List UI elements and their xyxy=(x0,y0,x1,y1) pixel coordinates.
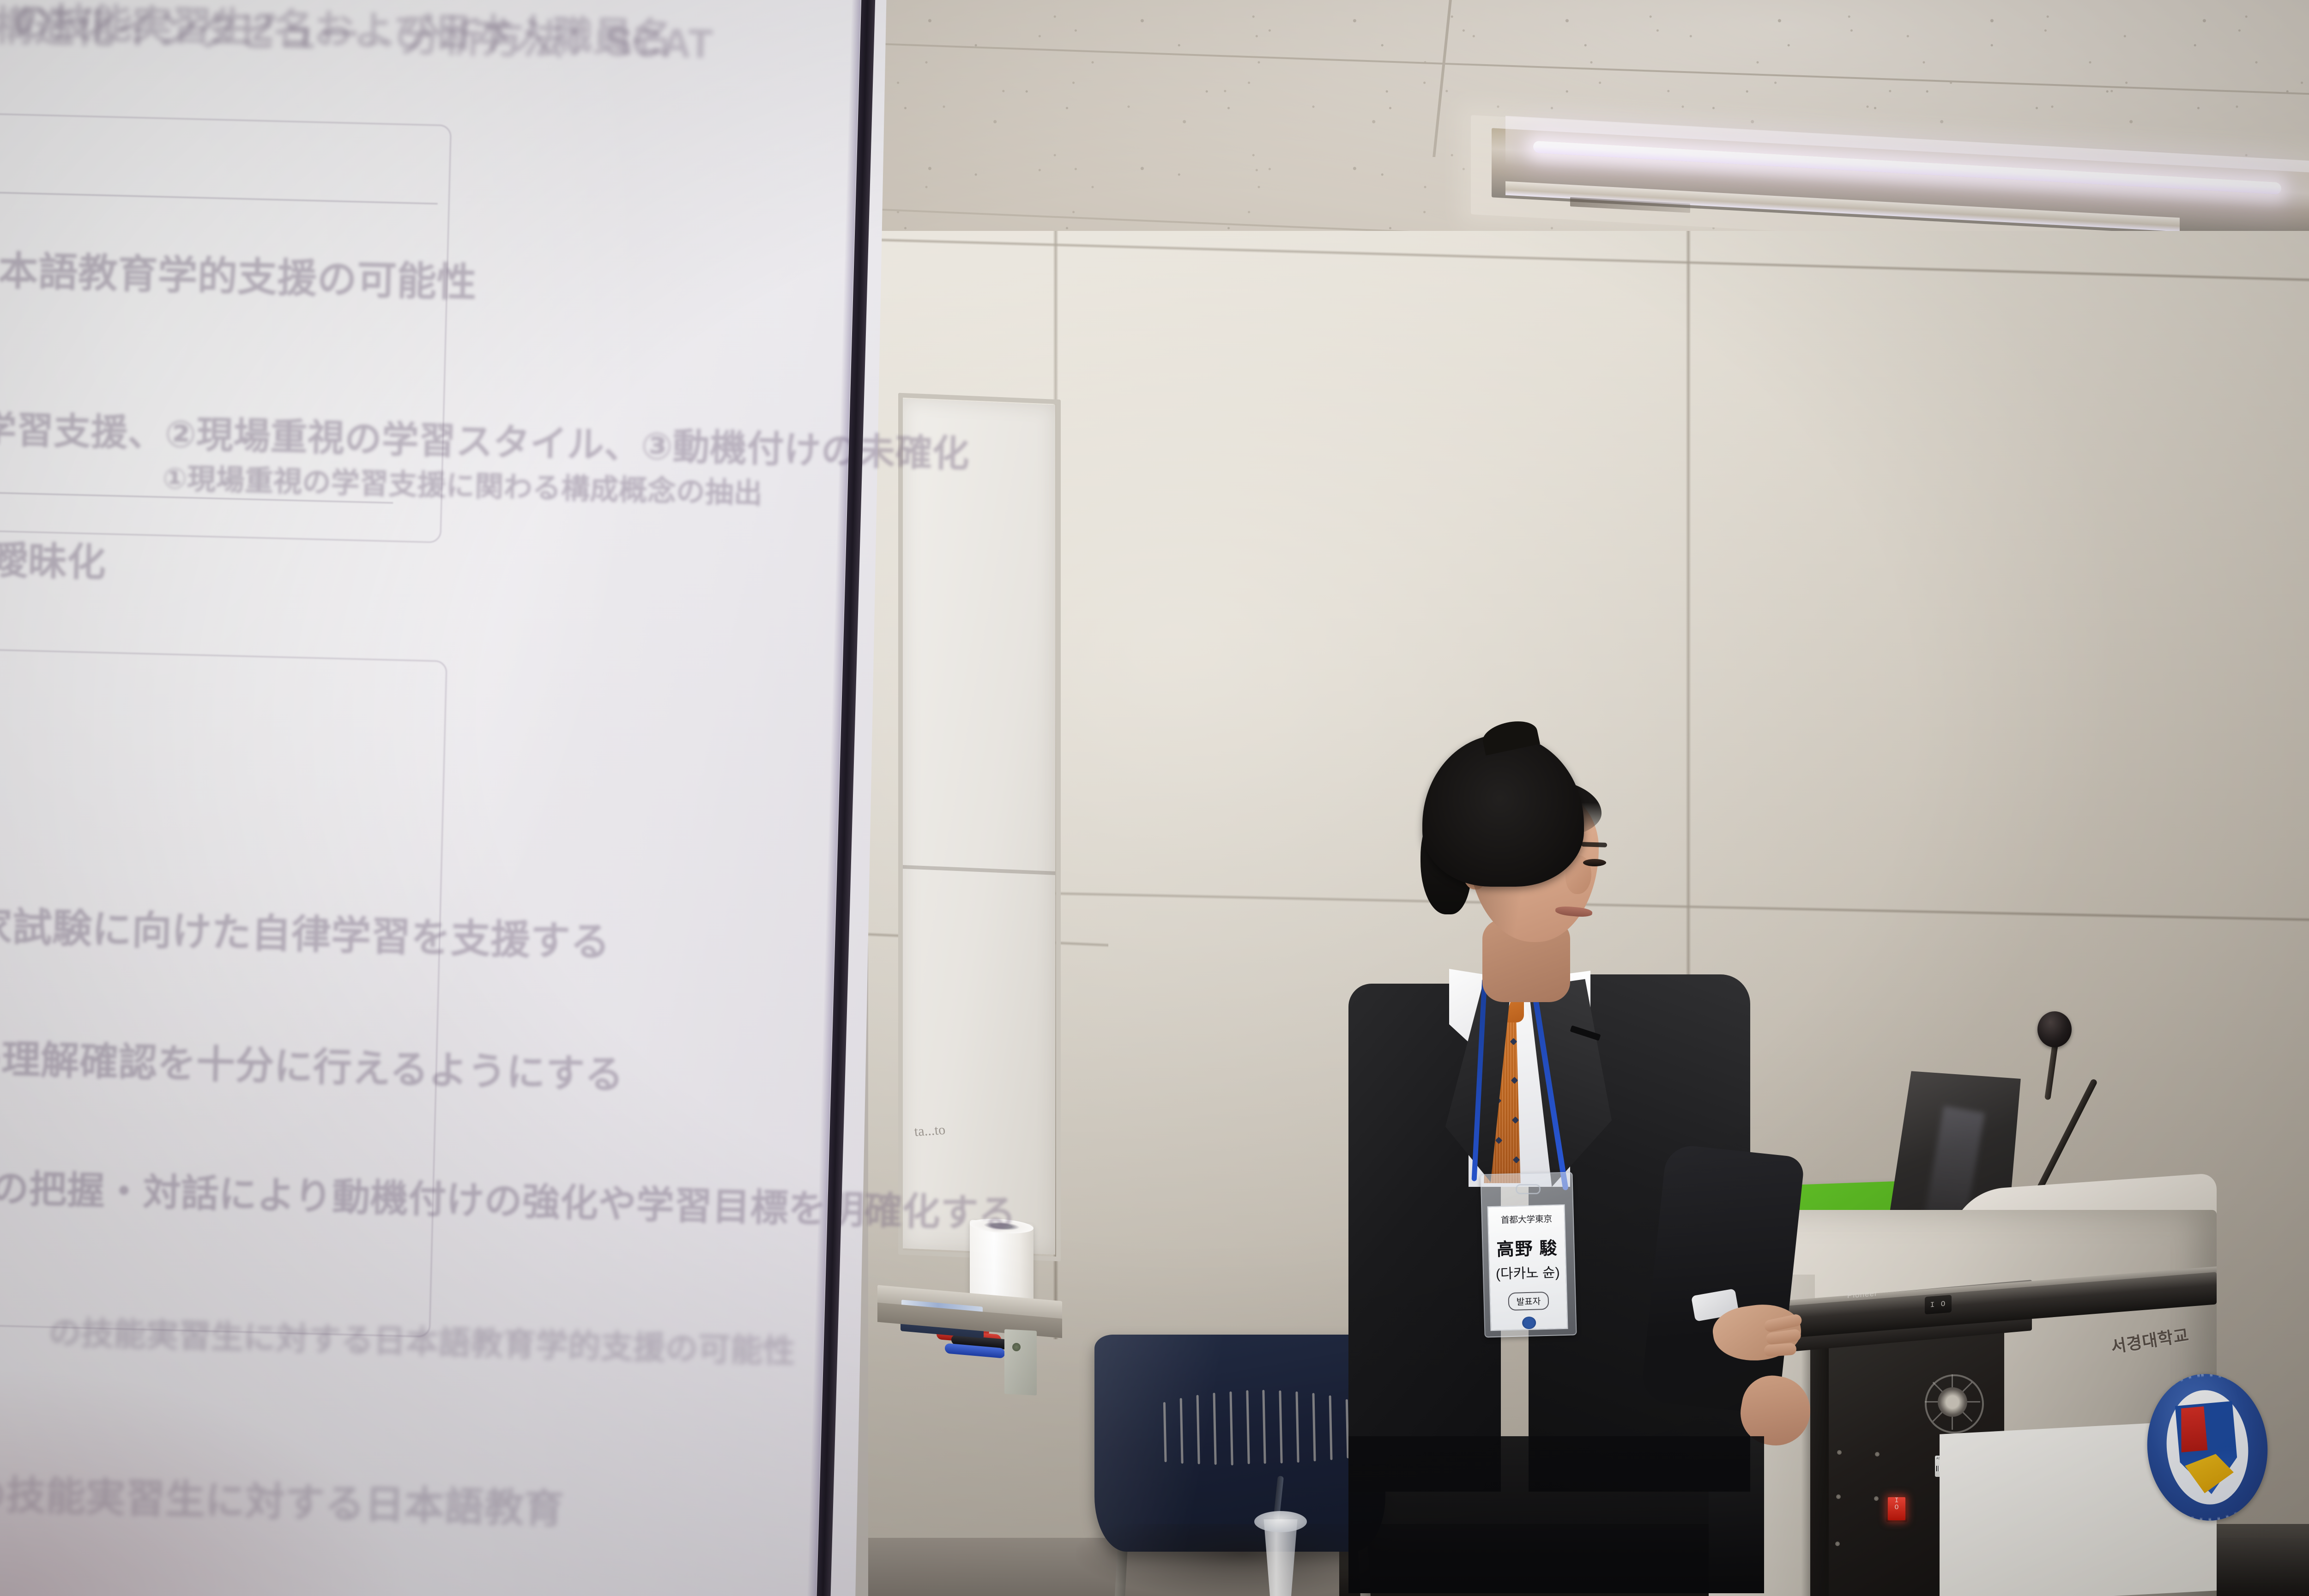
panel-screw xyxy=(1874,1496,1879,1501)
panel-screw xyxy=(1875,1452,1880,1457)
chair-vent-slots xyxy=(1163,1388,1349,1466)
badge-name-korean: (다카노 슌) xyxy=(1495,1261,1560,1283)
arm-right xyxy=(1640,1143,1805,1415)
power-switch[interactable]: IO xyxy=(1886,1495,1907,1522)
badge-logo-icon xyxy=(1522,1317,1536,1330)
badge-role: 발표자 xyxy=(1508,1292,1549,1311)
crest-red-element xyxy=(2177,1406,2207,1452)
body-lower-shadow xyxy=(1348,1436,1764,1593)
presenter: 首都大学東京 高野 駿 (다카노 슌) 발표자 xyxy=(1330,734,1866,1596)
university-crest-icon xyxy=(2141,1369,2274,1525)
cup-lid xyxy=(1254,1511,1307,1532)
wall-sensor-box[interactable] xyxy=(1004,1329,1037,1396)
hair xyxy=(1422,734,1584,887)
badge-name: 高野 駿 xyxy=(1496,1233,1558,1260)
badge-organization: 首都大学東京 xyxy=(1500,1212,1552,1226)
presentation-room-photo: ta...to 자료집 · 학술대회 xyxy=(0,0,2309,1596)
fan-hub xyxy=(1938,1387,1967,1417)
badge-slot-hole xyxy=(1516,1184,1541,1194)
screen-corner-shadow xyxy=(0,1367,416,1596)
power-switch-led: IO xyxy=(1888,1497,1905,1520)
finger xyxy=(1764,1343,1797,1357)
lectern-secondary-switch[interactable]: I O xyxy=(1925,1295,1952,1315)
conference-badge: 首都大学東京 高野 駿 (다카노 슌) 발표자 xyxy=(1487,1204,1568,1331)
screen-sheen xyxy=(0,0,887,1596)
wall-sensor-led xyxy=(1012,1343,1021,1351)
microphone-head-icon[interactable] xyxy=(2037,1011,2072,1047)
whiteboard-scribble: ta...to xyxy=(913,1120,975,1144)
